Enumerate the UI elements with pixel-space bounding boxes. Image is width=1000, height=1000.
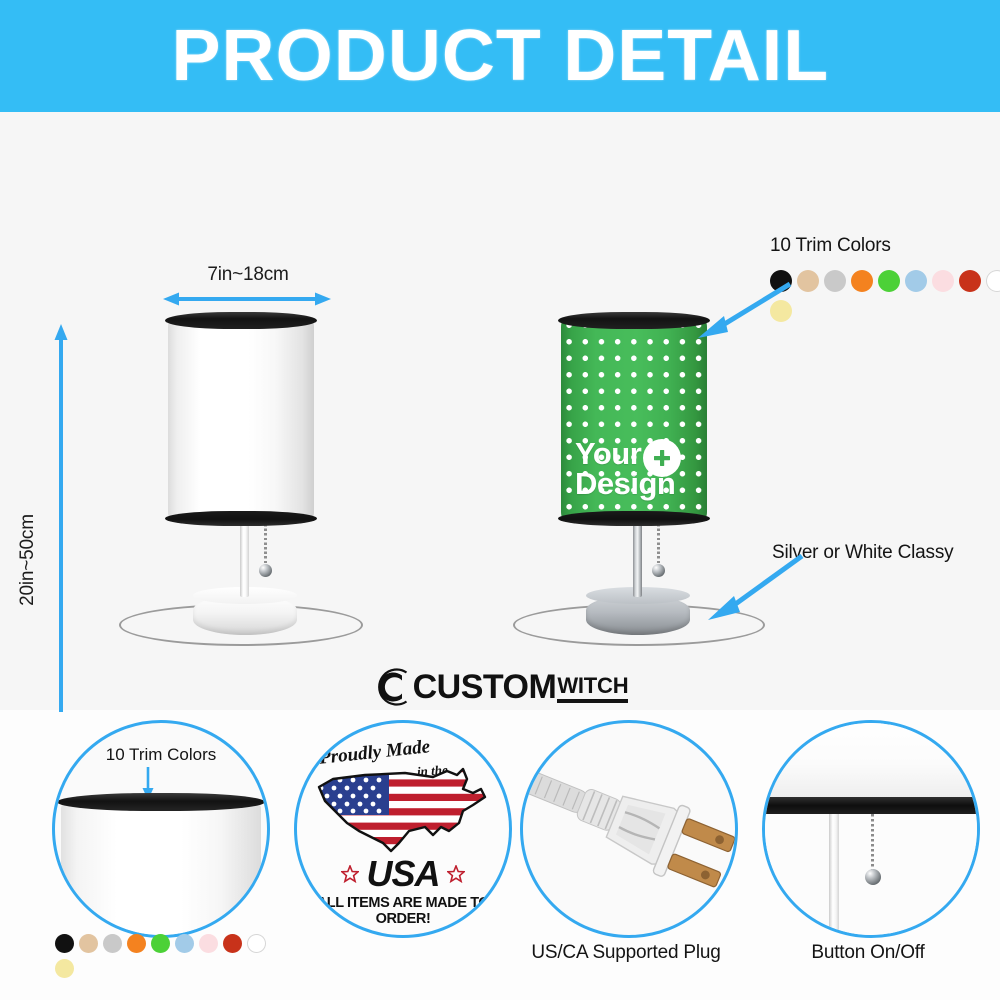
swatch-tan[interactable] <box>797 270 819 292</box>
product-stage: 7in~18cm 20in~50cm <box>0 112 1000 710</box>
usa-map-flag-icon <box>313 765 493 859</box>
swatch-orange[interactable] <box>851 270 873 292</box>
shade-closeup-trim-band <box>57 793 265 811</box>
usa-badge: Proudly Made in the <box>297 723 509 935</box>
swatch-gray[interactable] <box>824 270 846 292</box>
base-finish-callout-arrow-icon <box>700 552 810 624</box>
plus-icon[interactable] <box>643 439 681 477</box>
usa-star-right-icon <box>447 865 465 883</box>
pull-chain-closeup[interactable] <box>871 814 874 871</box>
usa-tagline: ALL ITEMS ARE MADE TO ORDER! <box>297 895 509 927</box>
brand-word-secondary-wrap: WITCH <box>557 675 628 703</box>
swatch-red[interactable] <box>223 934 242 953</box>
header-banner: PRODUCT DETAIL <box>0 0 1000 112</box>
pull-chain[interactable] <box>264 524 267 566</box>
trim-colors-title: 10 Trim Colors <box>770 235 1000 257</box>
swatch-red[interactable] <box>959 270 981 292</box>
pull-chain-ball[interactable] <box>259 564 272 577</box>
lamp-shade-surface <box>168 317 314 522</box>
bottom-swatch-row-2 <box>55 959 266 978</box>
pull-chain[interactable] <box>657 524 660 566</box>
lamp-shade <box>168 317 314 522</box>
swatch-gray[interactable] <box>103 934 122 953</box>
swatch-black[interactable] <box>55 934 74 953</box>
swatch-pink[interactable] <box>199 934 218 953</box>
bottom-swatch-row-1 <box>55 934 266 953</box>
swatch-pink[interactable] <box>932 270 954 292</box>
custom-c-mark-icon <box>372 667 412 707</box>
swatch-white[interactable] <box>247 934 266 953</box>
brand-word-primary: CUSTOM <box>413 668 557 707</box>
trim-colors-panel: 10 Trim Colors <box>770 235 1000 330</box>
page-title: PRODUCT DETAIL <box>171 20 829 92</box>
swatch-white[interactable] <box>986 270 1000 292</box>
feature-circle-trim-colors: 10 Trim Colors <box>52 720 270 938</box>
feature-row: 10 Trim Colors Prou <box>0 712 1000 1000</box>
trim-callout-arrow-icon <box>690 280 798 342</box>
pull-chain-ball-closeup[interactable] <box>865 869 881 885</box>
swatch-light-blue[interactable] <box>175 934 194 953</box>
shade-bottom-trim <box>558 511 710 526</box>
swatch-light-blue[interactable] <box>905 270 927 292</box>
lamp-shade: Your Design <box>561 317 707 522</box>
switch-caption: Button On/Off <box>743 942 993 964</box>
shade-closeup-surface <box>61 801 261 938</box>
brand-logo: CUSTOM WITCH <box>0 662 1000 712</box>
swatch-green[interactable] <box>151 934 170 953</box>
trim-swatch-row-1 <box>770 270 1000 292</box>
shade-closeup-upper <box>762 720 980 801</box>
shade-bottom-trim <box>165 511 317 526</box>
plug-caption: US/CA Supported Plug <box>501 942 751 964</box>
feature-circle-switch <box>762 720 980 938</box>
usa-star-left-icon <box>341 865 359 883</box>
feature-circle-plug <box>520 720 738 938</box>
shade-closeup-trim <box>762 797 980 814</box>
white-lamp <box>0 112 420 710</box>
bottom-trim-swatches <box>55 934 266 984</box>
swatch-tan[interactable] <box>79 934 98 953</box>
brand-word-secondary: WITCH <box>557 675 628 697</box>
swatch-yellow[interactable] <box>55 959 74 978</box>
usa-word: USA <box>297 853 509 895</box>
feature-circle-made-in-usa: Proudly Made in the <box>294 720 512 938</box>
swatch-orange[interactable] <box>127 934 146 953</box>
shade-top-trim <box>558 312 710 329</box>
pull-chain-ball[interactable] <box>652 564 665 577</box>
trim-swatch-row-2 <box>770 300 1000 322</box>
lamp-pole-closeup <box>829 814 839 936</box>
us-plug-icon <box>523 723 735 935</box>
brand-underline <box>557 699 628 703</box>
swatch-green[interactable] <box>878 270 900 292</box>
shade-top-trim <box>165 312 317 329</box>
bottom-trim-colors-label: 10 Trim Colors <box>55 745 267 765</box>
